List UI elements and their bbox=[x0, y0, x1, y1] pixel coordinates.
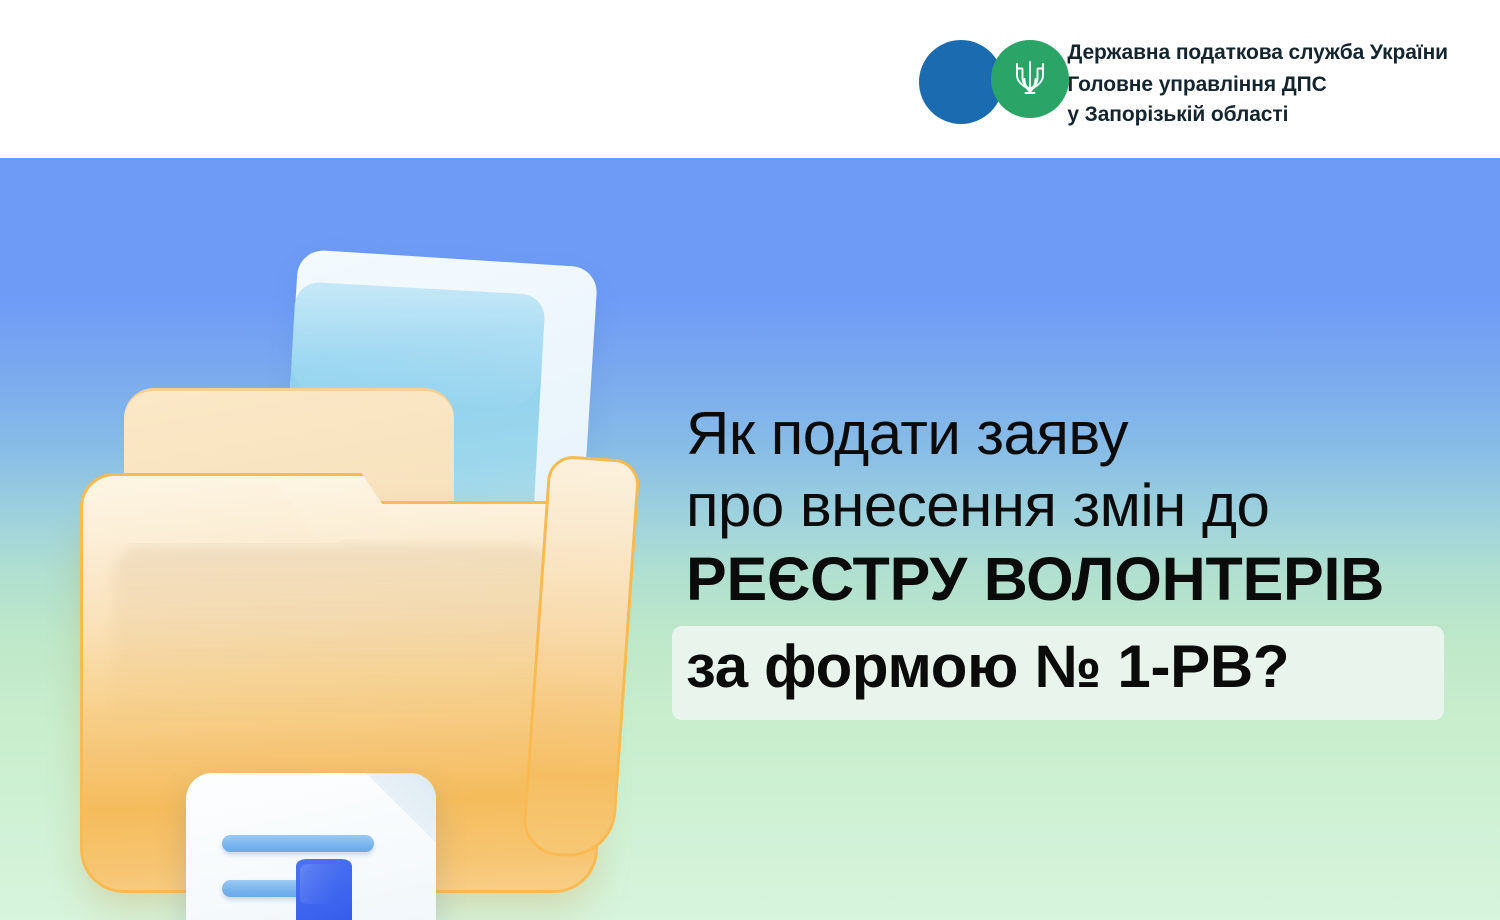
green-circle-icon bbox=[991, 40, 1069, 118]
org-line-1: Державна податкова служба України bbox=[1067, 38, 1448, 68]
org-line-2: Головне управління ДПС bbox=[1067, 70, 1448, 100]
headline-line-4: за формою № 1-РВ? bbox=[686, 616, 1476, 706]
logo-marks bbox=[919, 34, 1067, 126]
org-name-block: Державна податкова служба України Головн… bbox=[1067, 34, 1448, 130]
headline-block: Як подати заяву про внесення змін до РЕЄ… bbox=[686, 398, 1476, 706]
headline-line-1: Як подати заяву bbox=[686, 398, 1476, 470]
headline-line-3: РЕЄСТРУ ВОЛОНТЕРІВ bbox=[686, 542, 1476, 616]
poster-page: Державна податкова служба України Головн… bbox=[0, 0, 1500, 920]
document-text-line-1 bbox=[222, 835, 374, 852]
folder-illustration bbox=[70, 248, 670, 920]
brand-block: Державна податкова служба України Головн… bbox=[919, 34, 1448, 130]
folder-body bbox=[80, 473, 640, 903]
header-bar: Державна податкова служба України Головн… bbox=[0, 0, 1500, 158]
headline-line-2: про внесення змін до bbox=[686, 470, 1476, 542]
hero-banner: Як подати заяву про внесення змін до РЕЄ… bbox=[0, 158, 1500, 920]
trident-icon bbox=[1013, 59, 1047, 99]
document-folded-corner-icon bbox=[366, 773, 436, 843]
download-arrow-icon bbox=[248, 859, 400, 920]
download-document-card bbox=[186, 773, 436, 920]
org-line-3: у Запорізькій області bbox=[1067, 100, 1448, 130]
